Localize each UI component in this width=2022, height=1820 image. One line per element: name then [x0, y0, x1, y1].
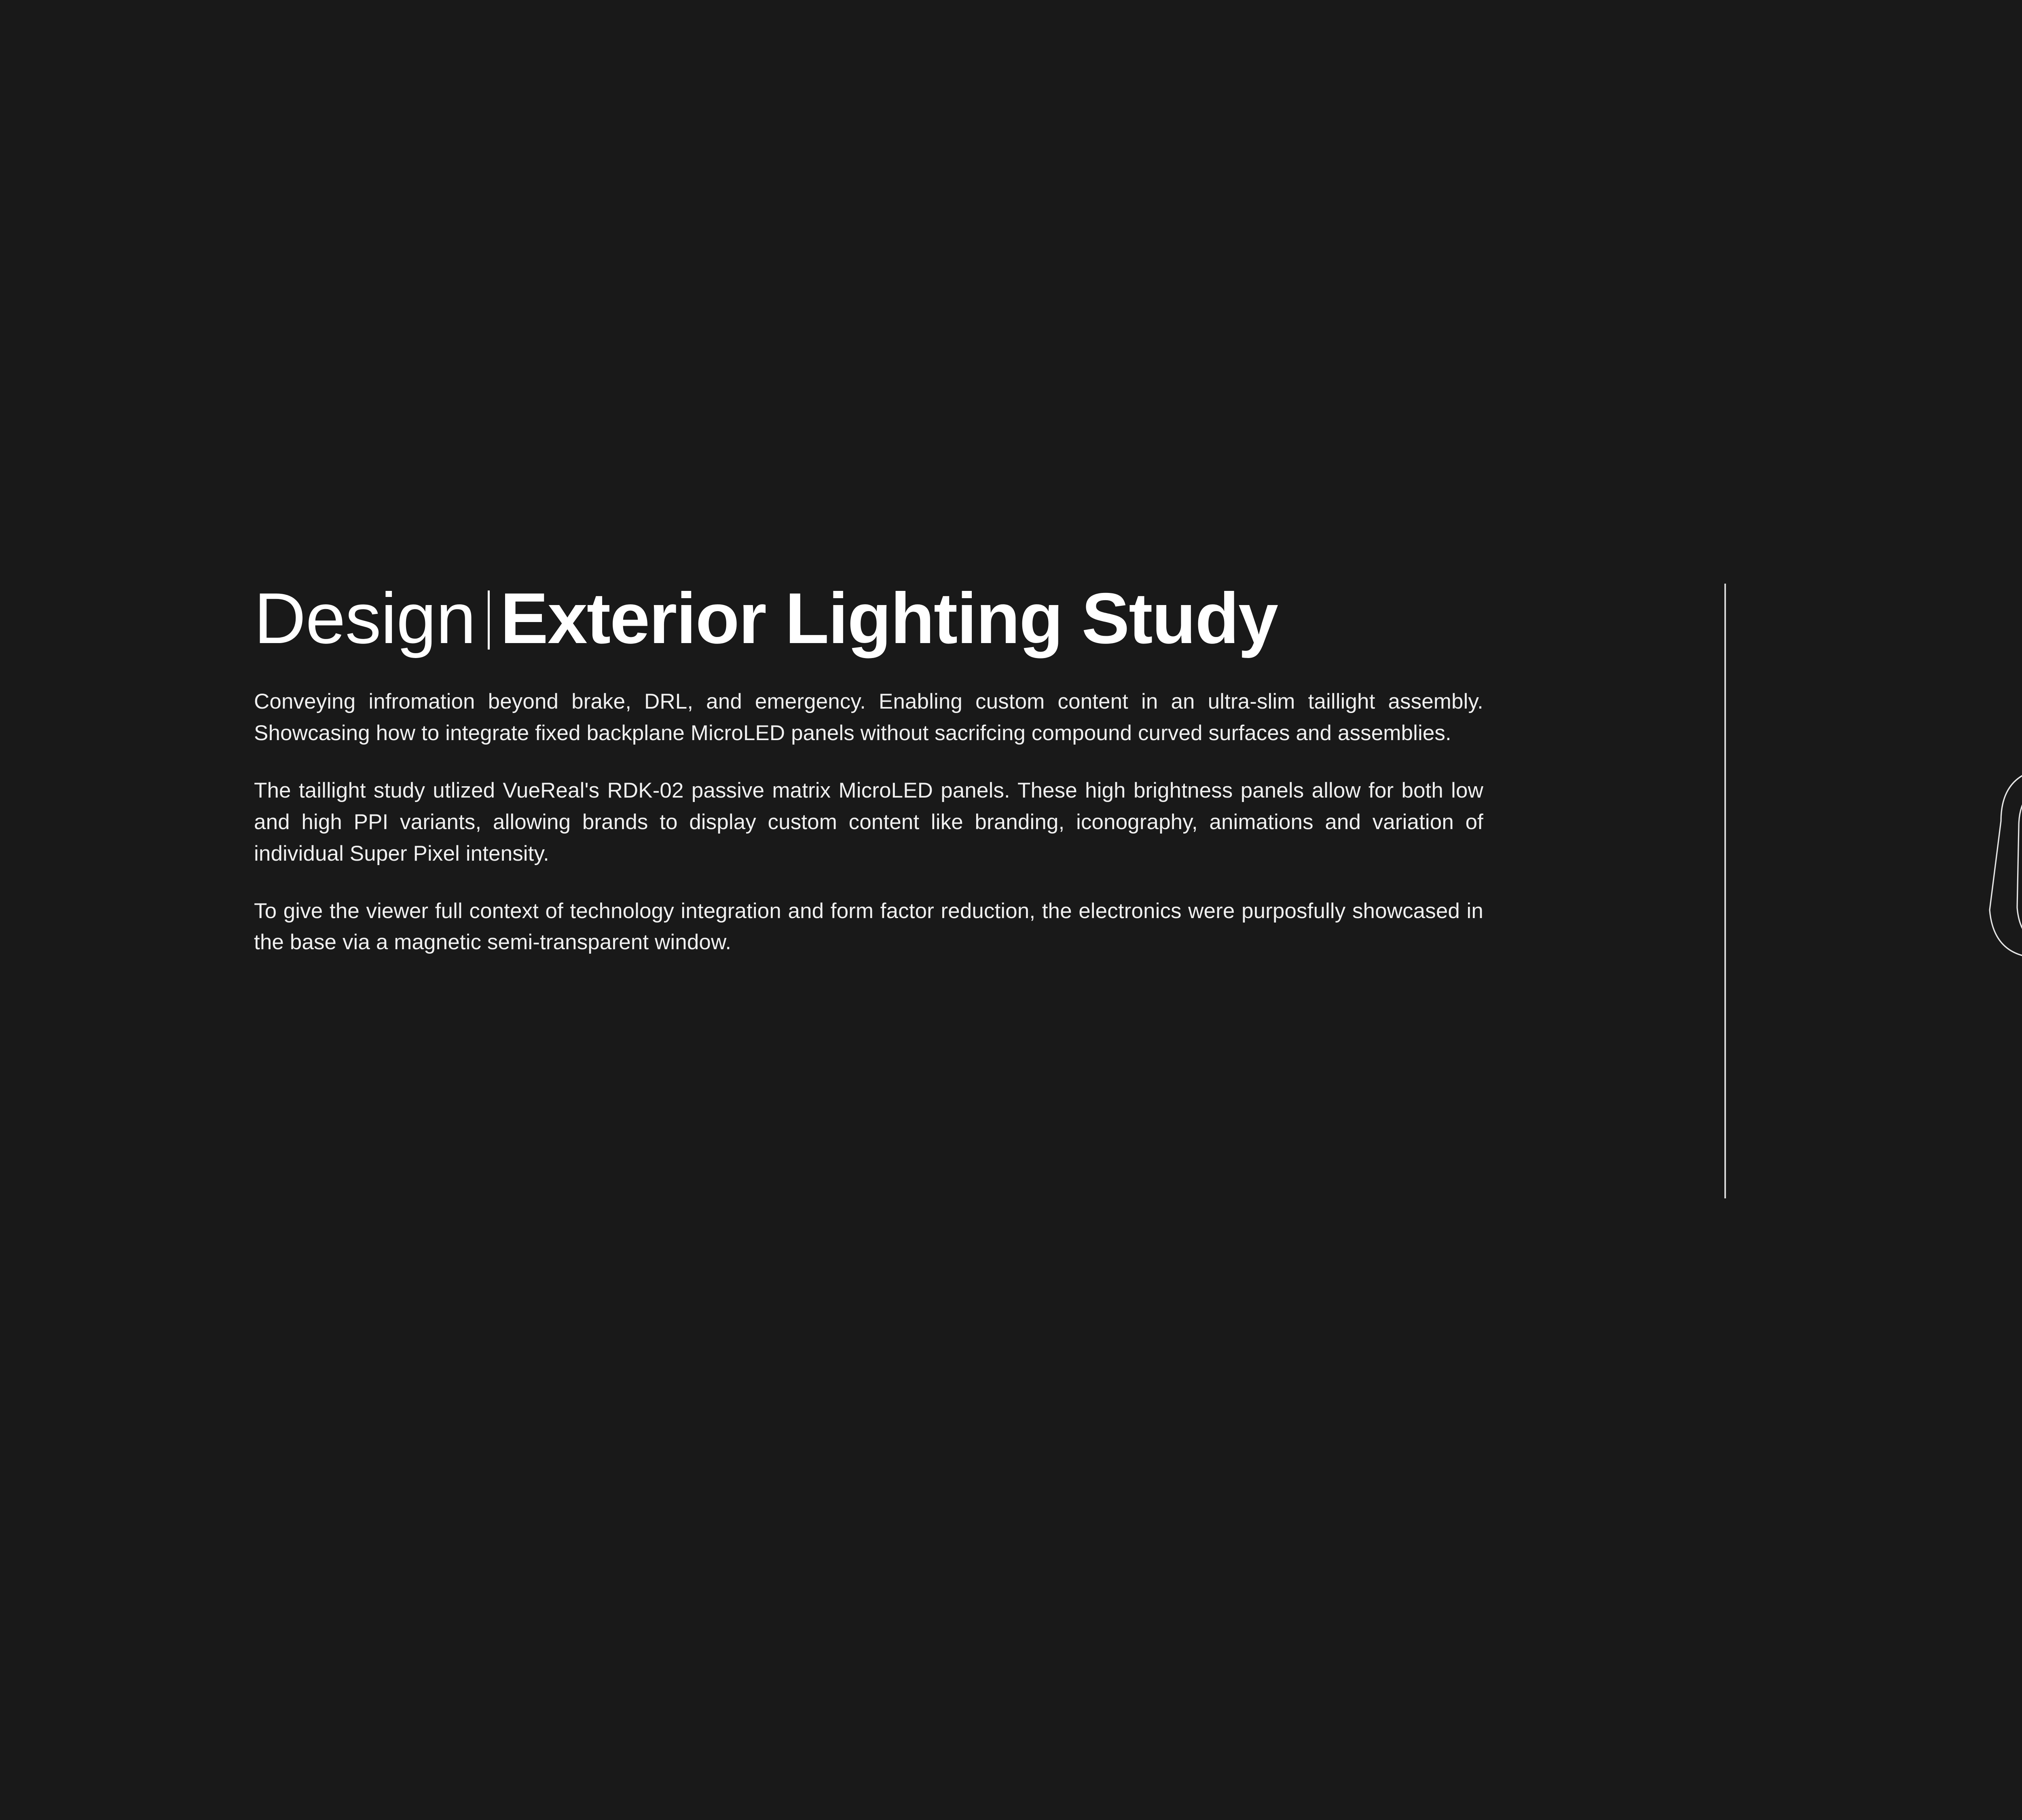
paragraph-1: Conveying infromation beyond brake, DRL,…: [254, 686, 1483, 749]
taillight-render: [1933, 740, 2022, 1039]
taillight-svg: [1933, 740, 2022, 1039]
paragraph-2: The taillight study utlized VueReal's RD…: [254, 775, 1483, 870]
title-separator-bar: [488, 590, 490, 650]
page-title: Design Exterior Lighting Study: [254, 582, 1483, 654]
paragraph-3: To give the viewer full context of techn…: [254, 895, 1483, 959]
column-divider: [1724, 584, 1726, 1198]
left-text-column: Design Exterior Lighting Study Conveying…: [254, 582, 1483, 958]
body-copy: Conveying infromation beyond brake, DRL,…: [254, 686, 1483, 958]
slide-canvas: Design Exterior Lighting Study Conveying…: [0, 0, 2022, 1820]
page-title-light-segment: Design: [254, 582, 476, 654]
page-title-bold-segment: Exterior Lighting Study: [500, 582, 1277, 654]
housing-contour-lines: [1990, 768, 2022, 995]
